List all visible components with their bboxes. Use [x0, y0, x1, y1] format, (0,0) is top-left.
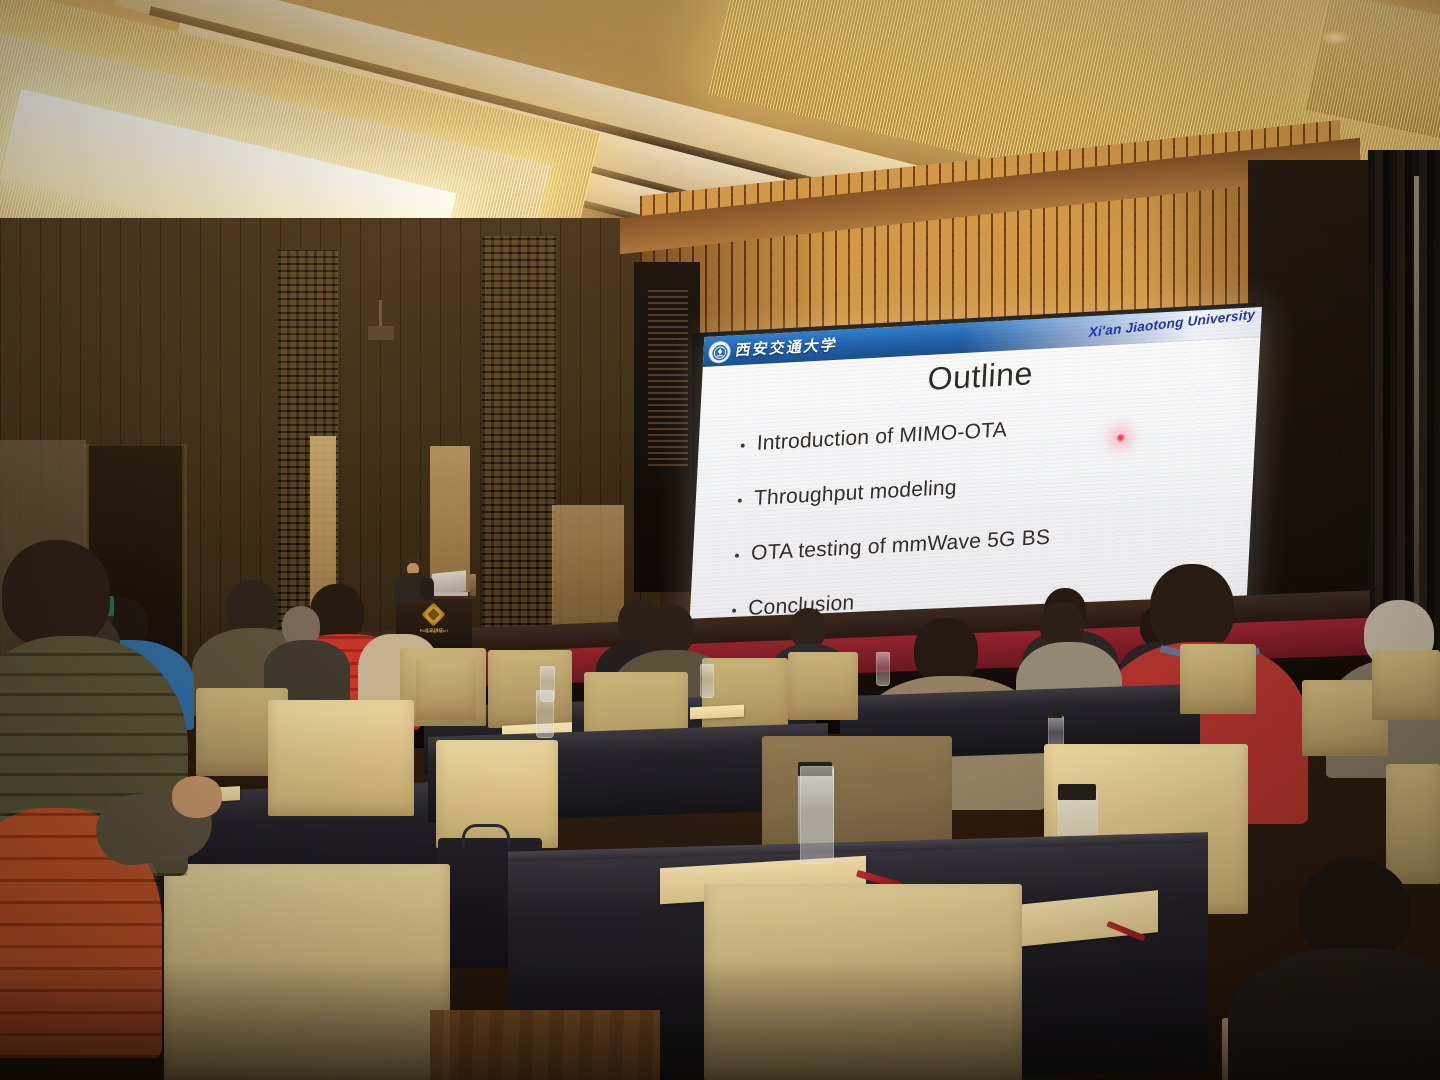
water-glass: [876, 652, 890, 686]
chair[interactable]: [1372, 650, 1440, 720]
attendee-head: [790, 608, 826, 648]
attendee-head: [226, 580, 278, 634]
projector-mount-rod: [379, 300, 382, 326]
chair[interactable]: [416, 660, 476, 720]
chair[interactable]: [488, 650, 572, 728]
conference-room-photo: 西安交通大学 Xi'an Jiaotong University Outline…: [0, 0, 1440, 1080]
curtain-highlight: [1414, 176, 1419, 646]
ceiling-projector: [368, 326, 394, 340]
chair[interactable]: [1386, 764, 1440, 884]
attendee-head: [1298, 860, 1410, 960]
bullet-text: Introduction of MIMO-OTA: [756, 418, 1007, 456]
bullet-text: OTA testing of mmWave 5G BS: [750, 526, 1050, 566]
attendee-head: [914, 618, 978, 684]
bottle-cap: [1048, 712, 1062, 718]
attendee-head: [1150, 564, 1234, 652]
slide-bullet-item: Introduction of MIMO-OTA: [740, 407, 1223, 457]
bullet-dot-icon: [738, 499, 742, 503]
wall-recess-glint: [648, 286, 688, 466]
slide-bullet-item: Throughput modeling: [737, 462, 1220, 512]
university-logo-chinese: 西安交通大学: [734, 334, 840, 361]
attendee-head: [2, 540, 110, 648]
floor-shadow: [0, 960, 1440, 1080]
xjtu-seal-logo-icon: [708, 341, 731, 364]
water-glass: [800, 766, 834, 864]
bullet-dot-icon: [741, 444, 745, 448]
bullet-dot-icon: [735, 554, 739, 558]
laptop-keyboard: [428, 592, 468, 596]
stone-column: [482, 236, 556, 646]
ceiling-spotlight: [1320, 30, 1350, 45]
attendee-head: [644, 604, 694, 656]
water-glass: [700, 664, 714, 698]
stage-water-bottle: [470, 574, 476, 596]
water-glass: [536, 690, 554, 738]
bullet-text: Throughput modeling: [753, 476, 957, 511]
chair[interactable]: [268, 700, 414, 816]
slide-bullet-item: OTA testing of mmWave 5G BS: [734, 517, 1217, 567]
attendee-hand: [172, 776, 222, 818]
bullet-dot-icon: [732, 609, 736, 613]
door-frame: [182, 444, 187, 656]
bottle-cap: [1058, 784, 1096, 800]
presenter-arm: [420, 578, 434, 600]
chair[interactable]: [1180, 644, 1256, 714]
bag-handle: [462, 824, 510, 847]
chair[interactable]: [788, 652, 858, 720]
